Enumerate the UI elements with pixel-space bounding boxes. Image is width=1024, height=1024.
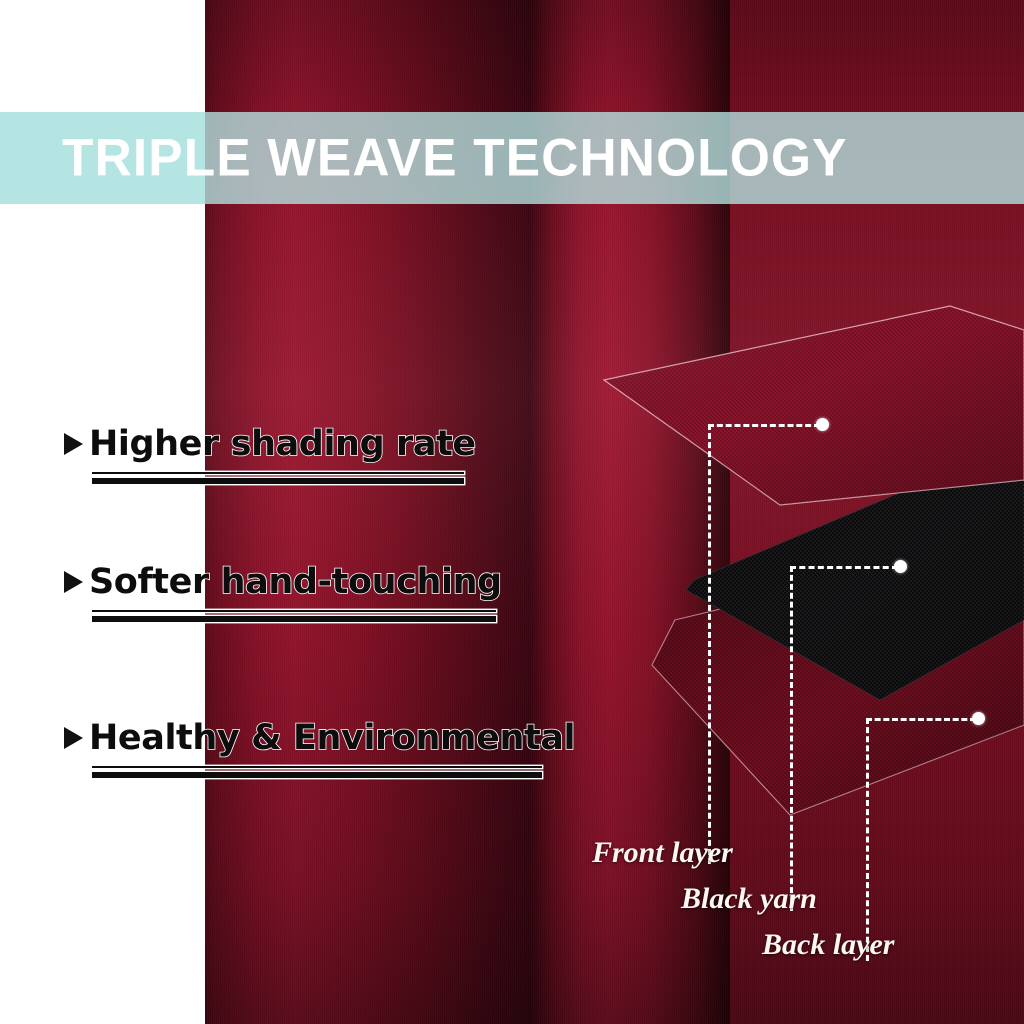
feature-item-3: Healthy & Environmental bbox=[64, 718, 575, 758]
feature-row: Higher shading rate bbox=[64, 424, 476, 464]
leader-horizontal bbox=[708, 424, 820, 427]
leader-vertical bbox=[708, 424, 711, 864]
feature-underline-3 bbox=[92, 766, 542, 778]
underline-thin bbox=[92, 610, 496, 612]
diagram-label-back-layer: Back layer bbox=[762, 928, 894, 962]
feature-row: Softer hand-touching bbox=[64, 562, 502, 602]
triangle-right-icon bbox=[64, 571, 83, 593]
leader-dot bbox=[816, 418, 829, 431]
feature-row: Healthy & Environmental bbox=[64, 718, 575, 758]
feature-item-2: Softer hand-touching bbox=[64, 562, 502, 602]
leader-horizontal bbox=[866, 718, 976, 721]
fabric-layers-diagram bbox=[590, 290, 1024, 850]
feature-label-2: Softer hand-touching bbox=[89, 562, 502, 602]
leader-dot bbox=[894, 560, 907, 573]
page-title: TRIPLE WEAVE TECHNOLOGY bbox=[62, 128, 848, 189]
underline-thick bbox=[92, 616, 496, 622]
triangle-right-icon bbox=[64, 433, 83, 455]
triangle-right-icon bbox=[64, 727, 83, 749]
leader-vertical bbox=[866, 718, 869, 961]
diagram-label-front-layer: Front layer bbox=[592, 836, 733, 870]
underline-thin bbox=[92, 472, 464, 474]
feature-underline-2 bbox=[92, 610, 496, 622]
feature-item-1: Higher shading rate bbox=[64, 424, 476, 464]
leader-vertical bbox=[790, 566, 793, 911]
underline-thick bbox=[92, 772, 542, 778]
leader-horizontal bbox=[790, 566, 898, 569]
product-feature-image: TRIPLE WEAVE TECHNOLOGY Higher shading r… bbox=[0, 0, 1024, 1024]
underline-thick bbox=[92, 478, 464, 484]
feature-underline-1 bbox=[92, 472, 464, 484]
title-banner: TRIPLE WEAVE TECHNOLOGY bbox=[0, 112, 1024, 204]
diagram-front-layer bbox=[604, 306, 1024, 505]
leader-dot bbox=[972, 712, 985, 725]
feature-label-3: Healthy & Environmental bbox=[89, 718, 575, 758]
diagram-label-black-yarn: Black yarn bbox=[681, 882, 817, 916]
feature-label-1: Higher shading rate bbox=[89, 424, 476, 464]
underline-thin bbox=[92, 766, 542, 768]
